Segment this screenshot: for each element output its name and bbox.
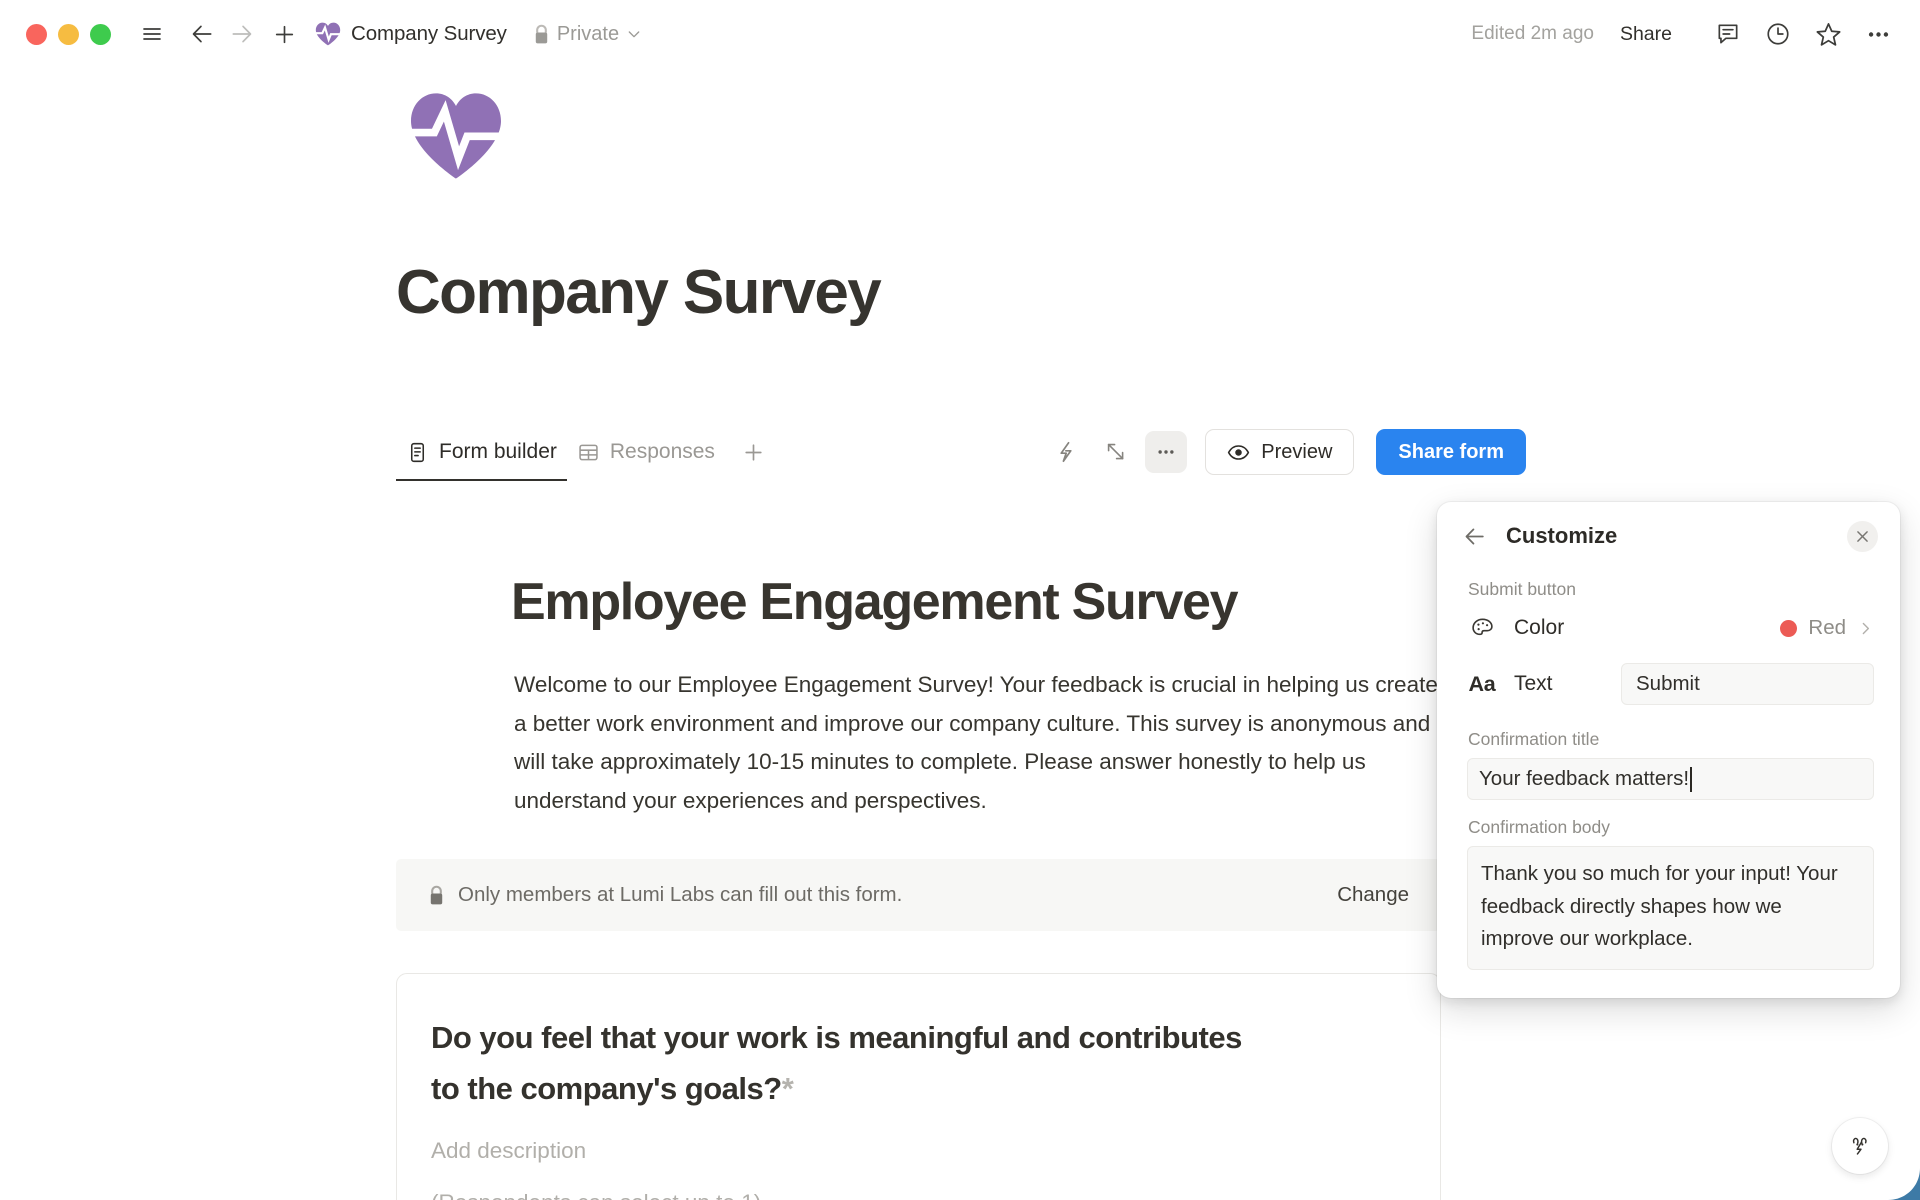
chevron-right-icon [1857,620,1874,637]
ellipsis-icon [1155,441,1177,463]
submit-text-input-value: Submit [1636,672,1700,696]
form-doc-icon [406,441,429,464]
eye-icon [1227,441,1250,464]
tab-responses-label: Responses [610,440,715,464]
edited-timestamp: Edited 2m ago [1471,23,1594,45]
customize-panel-title: Customize [1506,523,1617,549]
share-button[interactable]: Share [1620,23,1672,46]
form-toolbar: Preview Share form [1045,429,1526,475]
tab-form-builder-label: Form builder [439,440,557,464]
color-palette-icon [1468,614,1496,642]
lock-icon [428,885,445,906]
confirmation-body-label: Confirmation body [1437,817,1900,838]
preview-button[interactable]: Preview [1205,429,1354,475]
confirmation-body-value: Thank you so much for your input! Your f… [1481,862,1838,950]
lightning-bolt-icon [1054,440,1078,464]
form-access-banner: Only members at Lumi Labs can fill out t… [396,859,1441,931]
heart-pulse-icon [315,21,341,47]
arrow-right-icon[interactable] [223,15,261,53]
ai-assistant-button[interactable] [1832,1118,1888,1174]
confirmation-title-value: Your feedback matters! [1479,767,1689,791]
aa-text-icon: Aa [1468,670,1496,698]
submit-color-value: Red [1808,616,1846,640]
ellipsis-icon[interactable] [1858,14,1898,54]
breadcrumb[interactable]: Company Survey [315,21,507,47]
color-swatch [1780,620,1797,637]
change-access-button[interactable]: Change [1337,883,1409,907]
arrow-left-icon[interactable] [183,15,221,53]
question-title[interactable]: Do you feel that your work is meaningful… [431,1012,1261,1114]
window-close-button[interactable] [26,24,47,45]
comment-icon[interactable] [1708,14,1748,54]
confirmation-body-input[interactable]: Thank you so much for your input! Your f… [1467,846,1874,970]
submit-color-value-group[interactable]: Red [1780,616,1874,640]
question-selection-hint: (Respondents can select up to 1) [431,1190,1406,1200]
confirmation-title-input[interactable]: Your feedback matters! [1467,758,1874,800]
star-icon[interactable] [1808,14,1848,54]
question-card[interactable]: Do you feel that your work is meaningful… [396,973,1441,1200]
breadcrumb-doc-title: Company Survey [351,22,507,46]
preview-button-label: Preview [1261,441,1332,464]
page-content: Company Survey Form builder Responses [0,68,1920,1200]
lock-icon [533,24,550,45]
table-grid-icon [577,441,600,464]
view-tabs: Form builder Responses [396,423,1526,481]
submit-button-section-label: Submit button [1437,579,1900,600]
text-caret [1690,767,1692,792]
customize-panel: Customize Submit button Color [1437,502,1900,998]
share-form-button[interactable]: Share form [1376,429,1526,475]
question-title-text: Do you feel that your work is meaningful… [431,1020,1242,1106]
submit-color-row[interactable]: Color Red [1437,600,1900,656]
question-description-placeholder[interactable]: Add description [431,1138,1406,1164]
tab-responses[interactable]: Responses [567,423,725,481]
add-tab-button[interactable] [741,440,766,465]
hamburger-icon[interactable] [133,15,171,53]
page-heart-pulse-icon[interactable] [408,88,504,184]
tab-form-builder[interactable]: Form builder [396,423,567,481]
privacy-selector[interactable]: Private [533,23,642,46]
plus-icon [741,440,766,465]
submit-color-label: Color [1514,616,1564,640]
ai-face-icon [1845,1131,1875,1161]
page-title[interactable]: Company Survey [396,257,880,328]
arrow-left-icon[interactable] [1459,521,1489,551]
aa-text-glyph: Aa [1469,672,1496,697]
confirmation-title-label: Confirmation title [1437,729,1900,750]
submit-text-row[interactable]: Aa Text Submit [1437,656,1900,712]
clock-icon[interactable] [1758,14,1798,54]
window-titlebar: Company Survey Private Edited 2m ago Sha… [0,0,1920,68]
form-description[interactable]: Welcome to our Employee Engagement Surve… [514,666,1444,820]
expand-diagonal-icon [1104,440,1128,464]
form-access-text: Only members at Lumi Labs can fill out t… [458,883,902,907]
submit-text-input[interactable]: Submit [1621,663,1874,705]
plus-icon[interactable] [265,15,303,53]
share-form-button-label: Share form [1398,441,1504,464]
chevron-down-icon [626,26,642,42]
titlebar-actions: Edited 2m ago Share [1471,14,1898,54]
close-icon[interactable] [1847,521,1878,552]
privacy-label: Private [557,23,619,46]
customize-panel-header: Customize [1437,502,1900,570]
automation-button[interactable] [1045,431,1087,473]
submit-text-label: Text [1514,672,1553,696]
window-minimize-button[interactable] [58,24,79,45]
window-controls [26,24,111,45]
form-preview: Employee Engagement Survey Welcome to ou… [396,486,1441,1200]
expand-button[interactable] [1095,431,1137,473]
window-maximize-button[interactable] [90,24,111,45]
form-heading[interactable]: Employee Engagement Survey [511,572,1441,632]
form-more-button[interactable] [1145,431,1187,473]
required-marker: * [782,1071,794,1106]
